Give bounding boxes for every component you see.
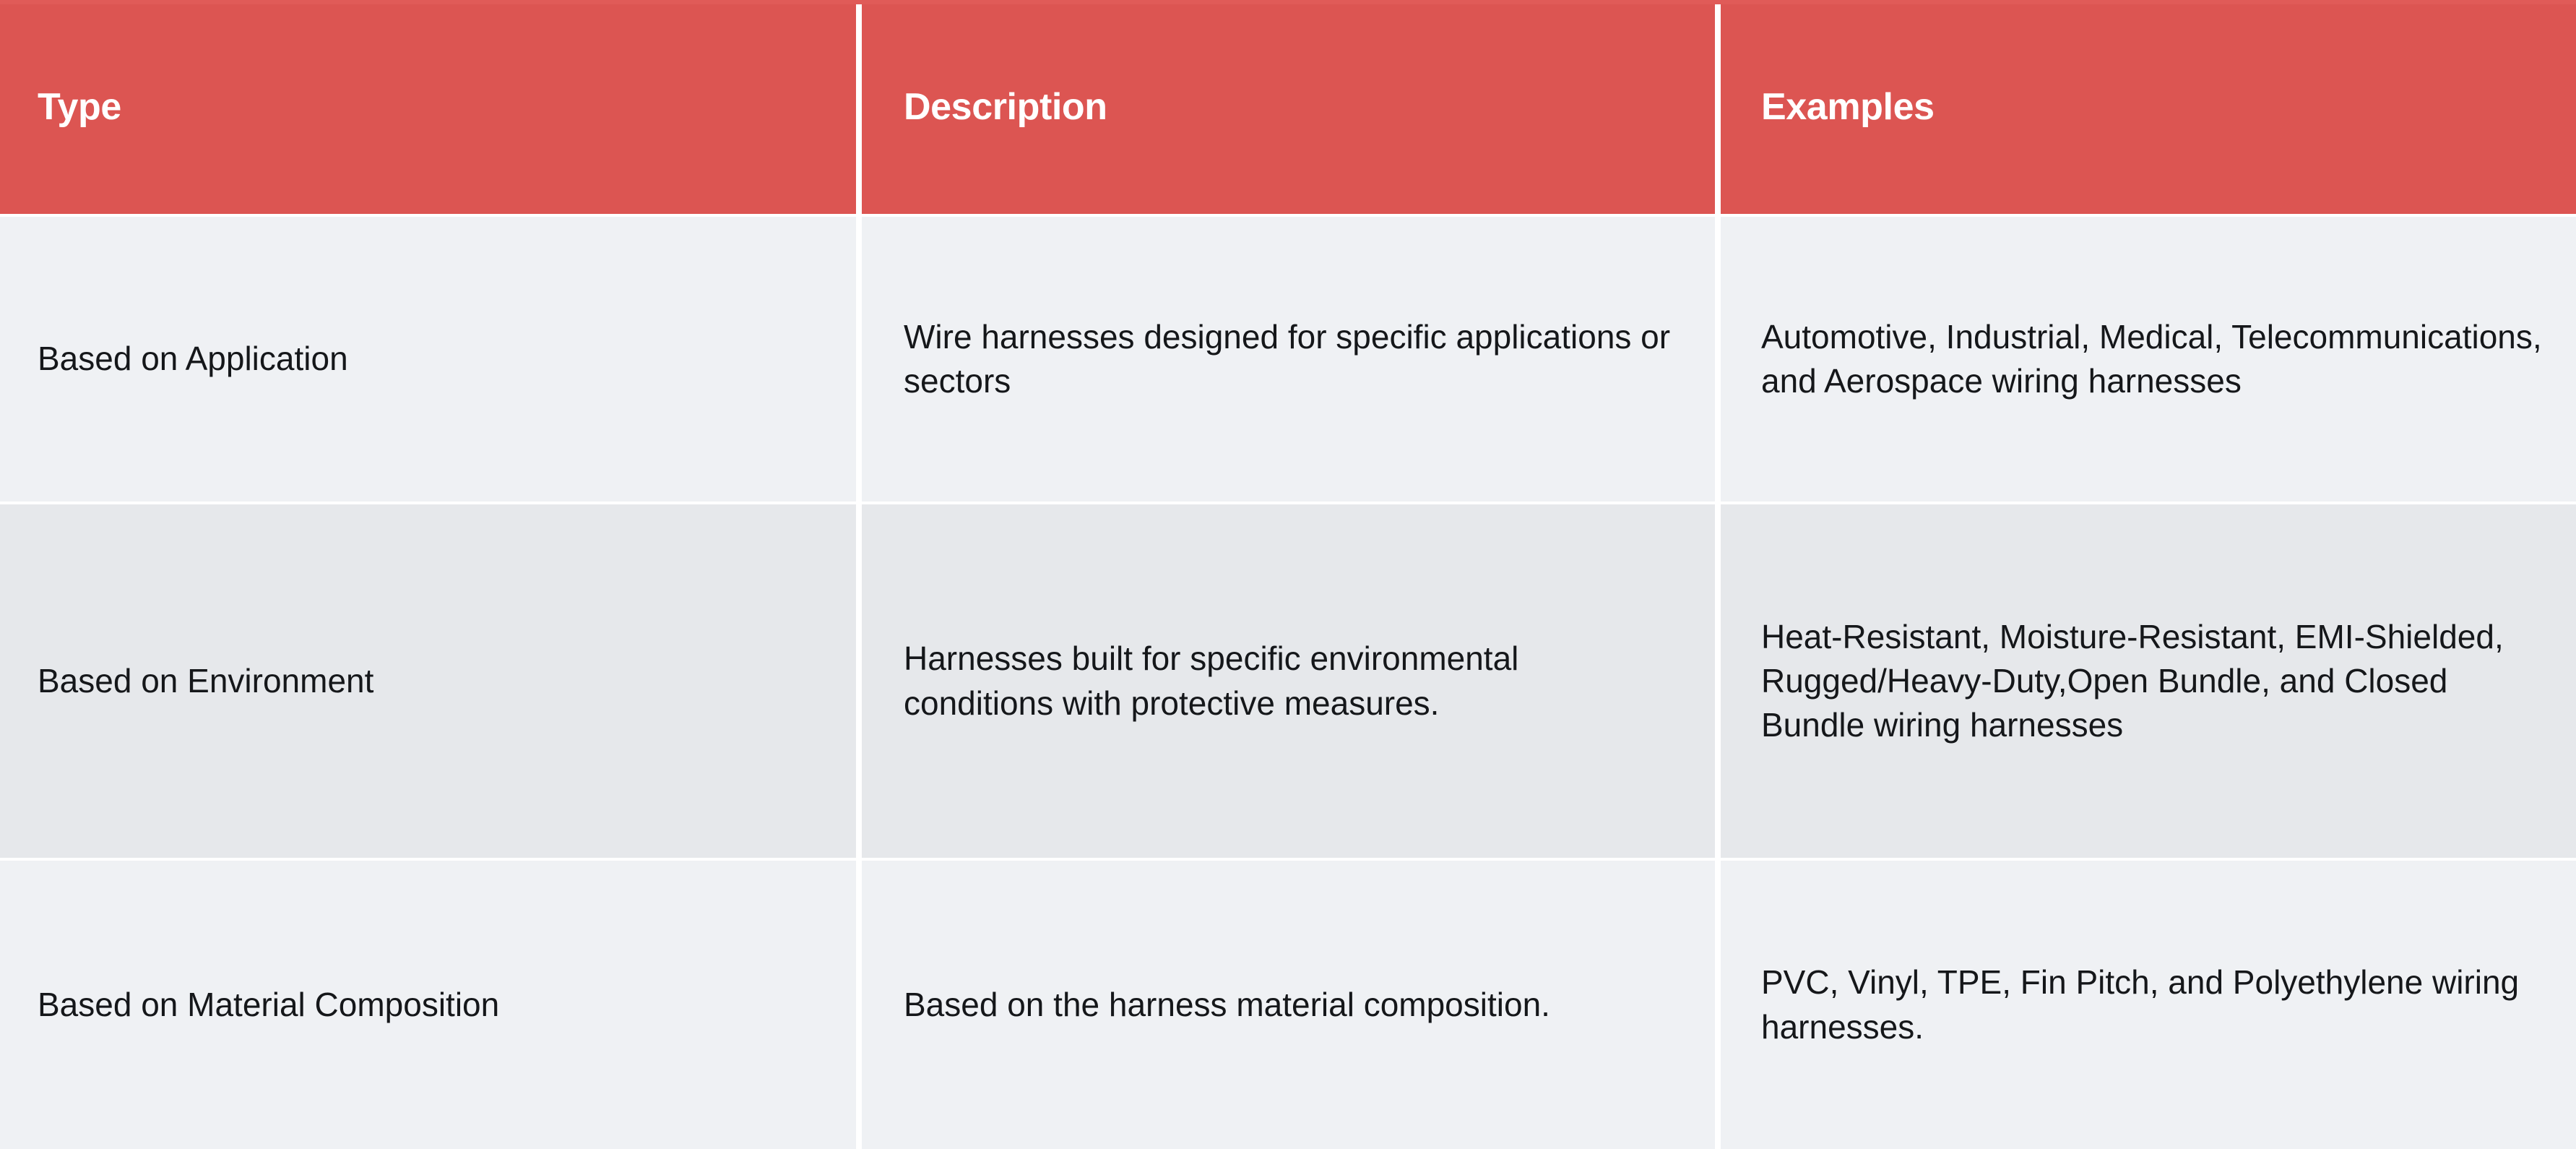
column-gutter-1 xyxy=(856,504,862,858)
column-gutter-2 xyxy=(1715,504,1721,858)
cell-type-text: Based on Environment xyxy=(38,659,827,703)
column-gutter-2 xyxy=(1715,0,1721,214)
cell-description: Based on the harness material compositio… xyxy=(862,861,1715,1149)
cell-examples-text: Automotive, Industrial, Medical, Telecom… xyxy=(1761,315,2544,403)
cell-description-text: Based on the harness material compositio… xyxy=(904,983,1672,1027)
column-gutter-2 xyxy=(1715,861,1721,1149)
cell-type-text: Based on Application xyxy=(38,337,827,381)
column-gutter-1 xyxy=(856,0,862,214)
table-header-row: Type Description Examples xyxy=(0,0,2576,214)
cell-examples-text: Heat-Resistant, Moisture-Resistant, EMI-… xyxy=(1761,615,2544,748)
cell-examples-text: PVC, Vinyl, TPE, Fin Pitch, and Polyethy… xyxy=(1761,960,2544,1049)
table-row: Based on Environment Harnesses built for… xyxy=(0,504,2576,858)
column-gutter-1 xyxy=(856,861,862,1149)
column-header-description: Description xyxy=(862,0,1715,214)
comparison-table-container: Type Description Examples Based on Appli… xyxy=(0,0,2576,1148)
table-body: Based on Application Wire harnesses desi… xyxy=(0,214,2576,1149)
cell-type-text: Based on Material Composition xyxy=(38,983,827,1027)
table-row: Based on Material Composition Based on t… xyxy=(0,861,2576,1149)
column-header-type: Type xyxy=(0,0,856,214)
cell-description: Wire harnesses designed for specific app… xyxy=(862,217,1715,502)
column-gutter-2 xyxy=(1715,217,1721,502)
cell-type: Based on Environment xyxy=(0,504,856,858)
table-header: Type Description Examples xyxy=(0,0,2576,214)
cell-examples: Automotive, Industrial, Medical, Telecom… xyxy=(1721,217,2576,502)
cell-examples: PVC, Vinyl, TPE, Fin Pitch, and Polyethy… xyxy=(1721,861,2576,1149)
cell-description: Harnesses built for specific environment… xyxy=(862,504,1715,858)
table-row: Based on Application Wire harnesses desi… xyxy=(0,217,2576,502)
cell-type: Based on Material Composition xyxy=(0,861,856,1149)
cell-type: Based on Application xyxy=(0,217,856,502)
wire-harness-types-table: Type Description Examples Based on Appli… xyxy=(0,0,2576,1149)
cell-description-text: Wire harnesses designed for specific app… xyxy=(904,315,1672,403)
cell-examples: Heat-Resistant, Moisture-Resistant, EMI-… xyxy=(1721,504,2576,858)
column-header-examples: Examples xyxy=(1721,0,2576,214)
column-gutter-1 xyxy=(856,217,862,502)
cell-description-text: Harnesses built for specific environment… xyxy=(904,637,1672,725)
